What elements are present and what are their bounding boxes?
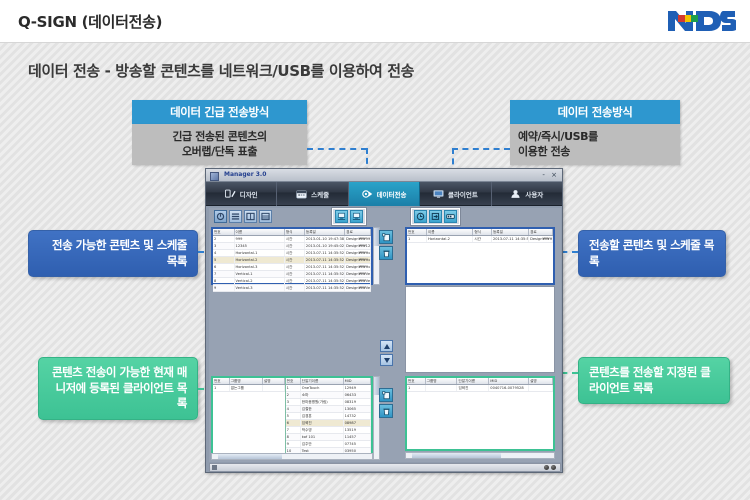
source-content-panel[interactable]: 번호 이름 형식 등록일 경로 2999시간2013-01-10 19:47:3… <box>211 227 373 285</box>
cell-date: 2013-07-11 14:35:52 <box>304 271 344 278</box>
cell-desc <box>262 385 284 392</box>
callout-source-content-list: 전송 가능한 콘텐츠 및 스케줄 목록 <box>28 230 198 277</box>
table-row[interactable]: 8Vertical-2시간2013-07-11 14:35:52Design₩₩… <box>213 278 371 285</box>
delete-client-button[interactable] <box>379 404 393 418</box>
app-icon <box>210 172 219 181</box>
delete-content-button[interactable] <box>379 246 393 260</box>
window-title-text: Manager 3.0 <box>224 171 266 178</box>
callout-transfer-method: 데이터 전송방식 예약/즉시/USB를 이용한 전송 <box>510 100 680 165</box>
table-row[interactable]: 2999시간2013-01-10 19:47:38Design₩₩999.des <box>213 236 371 243</box>
table-row[interactable]: 8kof 10111457 <box>286 434 371 441</box>
table-row[interactable]: 4Horizontal-1시간2013-07-11 14:35:52Design… <box>213 250 371 257</box>
callout-method-body: 예약/즉시/USB를 이용한 전송 <box>510 124 680 165</box>
cell-name: Horizontal-1 <box>234 250 284 257</box>
page-title: Q-SIGN (데이터전송) <box>18 11 162 32</box>
target-clients-body: 1임혁진0040716-0079528 <box>407 385 553 392</box>
data-transfer-workspace: 번호 이름 형식 등록일 경로 2999시간2013-01-10 19:47:3… <box>209 208 561 462</box>
target-content-table[interactable]: 번호 이름 형식 등록일 경로 1Horizontal-2시간2013-07-1… <box>407 229 553 243</box>
cell-date: 2013-01-10 19:45:02 <box>304 243 344 250</box>
cell-no: 8 <box>286 434 301 441</box>
cell-no: 7 <box>213 271 234 278</box>
window-title-bar[interactable]: Manager 3.0 - × <box>206 169 562 182</box>
table-row[interactable]: 9Vertical-3시간2013-07-11 14:35:52Design₩₩… <box>213 285 371 292</box>
client-side-buttons <box>379 388 393 418</box>
tab-data-transfer-label: 데이터전송 <box>377 189 407 199</box>
cell-path: Design₩₩Vertica... <box>345 271 371 278</box>
table-row[interactable]: 7Vertical-1시간2013-07-11 14:35:52Design₩₩… <box>213 271 371 278</box>
view-mode-button-group <box>212 209 274 224</box>
cell-type: 시간 <box>284 250 304 257</box>
table-row[interactable]: 1없는그룹 <box>213 385 284 392</box>
grid-view-icon[interactable] <box>244 210 257 223</box>
move-down-button[interactable] <box>380 354 393 366</box>
client-transfer-button-group <box>332 208 366 225</box>
cell-type: 시간 <box>284 257 304 264</box>
schedule-send-icon[interactable] <box>414 210 427 223</box>
cell-mid: 08319 <box>343 399 370 406</box>
cell-date: 2013-01-10 19:47:38 <box>304 236 344 243</box>
cell-no: 4 <box>213 250 234 257</box>
cell-mid: 08987 <box>343 420 370 427</box>
cell-no: 6 <box>286 420 301 427</box>
transfer-icon <box>362 189 373 199</box>
cell-path: Design₩₩Horizo... <box>345 264 371 271</box>
send-method-button-group <box>411 208 460 225</box>
status-indicators <box>544 465 556 470</box>
cell-no: 4 <box>286 406 301 413</box>
cell-mid: 11457 <box>343 434 370 441</box>
table-row[interactable]: 9김주안07745 <box>286 441 371 448</box>
tab-design-label: 디자인 <box>240 189 258 199</box>
table-row[interactable]: 2소마06433 <box>286 392 371 399</box>
cell-name: Horizontal-2 <box>234 257 284 264</box>
client-list-body: 1OneTouch129492소마064333한마음병원(가림)083194김철… <box>286 385 371 459</box>
cell-mid: 13065 <box>343 406 370 413</box>
table-row[interactable]: 1OneTouch12949 <box>286 385 371 392</box>
instant-send-icon[interactable] <box>429 210 442 223</box>
cell-name: 999 <box>234 236 284 243</box>
cell-type: 시간 <box>284 236 304 243</box>
cell-no: 8 <box>213 278 234 285</box>
client-list-hscroll[interactable] <box>211 453 373 460</box>
group-list-body: 1없는그룹 <box>213 385 284 392</box>
cell-no: 2 <box>213 236 234 243</box>
cell-name: 임혁진 <box>457 385 489 392</box>
cell-no: 1 <box>407 385 425 392</box>
cell-type: 시간 <box>284 278 304 285</box>
nds-logo-icon <box>666 8 736 34</box>
workspace-toolbar <box>209 208 561 226</box>
status-bar <box>209 463 561 472</box>
design-icon <box>225 189 236 199</box>
table-row[interactable]: 4김철한13065 <box>286 406 371 413</box>
cell-path: Design₩₩Vertica... <box>345 278 371 285</box>
slide-subtitle: 데이터 전송 - 방송할 콘텐츠를 네트워크/USB를 이용하여 전송 <box>28 60 414 81</box>
available-clients-panel[interactable]: 번호 그룹명 설명 1없는그룹 번호 단말기이름 MID <box>211 376 373 460</box>
cell-no: 1 <box>213 385 229 392</box>
refresh-icon[interactable] <box>214 210 227 223</box>
table-row[interactable]: 6임혁진08987 <box>286 420 371 427</box>
connector-method-h <box>452 148 510 150</box>
cell-type: 시간 <box>284 264 304 271</box>
group-list-pane[interactable]: 번호 그룹명 설명 1없는그룹 <box>213 378 286 458</box>
target-content-panel[interactable]: 번호 이름 형식 등록일 경로 1Horizontal-2시간2013-07-1… <box>405 227 555 285</box>
client-list-table[interactable]: 번호 단말기이름 MID 1OneTouch129492소마064333한마음병… <box>286 378 371 458</box>
client-remove-icon[interactable] <box>350 210 363 223</box>
cell-date: 2013-07-11 14:35:52 <box>304 264 344 271</box>
source-content-table[interactable]: 번호 이름 형식 등록일 경로 2999시간2013-01-10 19:47:3… <box>213 229 371 292</box>
cell-no: 9 <box>213 285 234 292</box>
cell-name: 김철한 <box>300 406 343 413</box>
user-icon <box>510 189 521 199</box>
callout-urgent-body: 긴급 전송된 콘텐츠의 오버랩/단독 표출 <box>132 124 307 165</box>
cell-date: 2013-07-11 14:35:52 <box>304 257 344 264</box>
page-header: Q-SIGN (데이터전송) <box>0 0 750 43</box>
cell-no: 2 <box>286 392 301 399</box>
table-row[interactable]: 312345시간2013-01-10 19:45:02Design₩₩12345… <box>213 243 371 250</box>
usb-send-icon[interactable] <box>444 210 457 223</box>
main-tab-bar: 디자인 스케줄 데이터전송 <box>206 182 562 206</box>
move-up-button[interactable] <box>380 340 393 352</box>
client-list-pane[interactable]: 번호 단말기이름 MID 1OneTouch129492소마064333한마음병… <box>286 378 371 458</box>
cell-mid: 14732 <box>343 413 370 420</box>
cell-no: 7 <box>286 427 301 434</box>
cell-mid: 12949 <box>343 385 370 392</box>
scroll-thumb[interactable] <box>218 454 282 459</box>
target-content-extra-area[interactable] <box>405 286 555 373</box>
cell-no: 9 <box>286 441 301 448</box>
cell-type: 시간 <box>473 236 492 243</box>
cell-mid: 06433 <box>343 392 370 399</box>
tab-schedule-label: 스케줄 <box>311 189 329 199</box>
cell-no: 5 <box>286 413 301 420</box>
down-arrow-icon <box>384 358 390 363</box>
cell-type: 시간 <box>284 285 304 292</box>
scroll-thumb[interactable] <box>412 453 501 458</box>
cell-name: OneTouch <box>300 385 343 392</box>
source-content-body: 2999시간2013-01-10 19:47:38Design₩₩999.des… <box>213 236 371 292</box>
window-control-buttons[interactable]: - × <box>542 171 559 179</box>
calendar-icon <box>296 189 307 199</box>
cell-mid: 0040716-0079528 <box>489 385 529 392</box>
target-clients-panel[interactable]: 번호 그룹명 단말기이름 MID 설명 1임혁진0040716-0079528 <box>405 376 555 451</box>
cell-name: 12345 <box>234 243 284 250</box>
client-add-icon[interactable] <box>335 210 348 223</box>
cell-name: 김경훈 <box>300 413 343 420</box>
cell-name: 소마 <box>300 392 343 399</box>
tab-client[interactable]: 클라이언트 <box>420 182 491 206</box>
table-row[interactable]: 7박수영13519 <box>286 427 371 434</box>
cell-date: 2013-07-11 14:35:52 <box>491 236 528 243</box>
cell-path: Design₩₩12345... <box>345 243 371 250</box>
status-icon <box>212 465 217 470</box>
cell-name: 한마음병원(가림) <box>300 399 343 406</box>
content-side-buttons <box>379 230 393 260</box>
cell-mid: 13519 <box>343 427 370 434</box>
cell-no: 6 <box>213 264 234 271</box>
group-list-table[interactable]: 번호 그룹명 설명 1없는그룹 <box>213 378 285 392</box>
cell-name: 없는그룹 <box>229 385 262 392</box>
cell-mid: 07745 <box>343 441 370 448</box>
cell-no: 3 <box>286 399 301 406</box>
table-row[interactable]: 5Horizontal-2시간2013-07-11 14:35:52Design… <box>213 257 371 264</box>
cell-name: 김주안 <box>300 441 343 448</box>
list-view-icon[interactable] <box>229 210 242 223</box>
callout-urgent-title: 데이터 긴급 전송방식 <box>132 100 307 124</box>
connector-urgent-h <box>307 148 367 150</box>
callout-target-client-list: 콘텐츠를 전송할 지정된 클라이언트 목록 <box>578 357 730 404</box>
cell-path: Design₩₩Horizo... <box>345 257 371 264</box>
cell-type: 시간 <box>284 271 304 278</box>
cell-no: 1 <box>407 236 426 243</box>
callout-method-title: 데이터 전송방식 <box>510 100 680 124</box>
table-row[interactable]: 5김경훈14732 <box>286 413 371 420</box>
cell-name: Horizontal-3 <box>234 264 284 271</box>
table-row[interactable]: 3한마음병원(가림)08319 <box>286 399 371 406</box>
cell-desc <box>529 385 553 392</box>
target-clients-hscroll[interactable] <box>405 452 555 459</box>
monitor-icon <box>433 189 444 199</box>
cell-date: 2013-07-11 14:35:52 <box>304 285 344 292</box>
cell-path: Design₩₩Horizo... <box>529 236 553 243</box>
cell-name: 박수영 <box>300 427 343 434</box>
cell-type: 시간 <box>284 243 304 250</box>
slide-root: Q-SIGN (데이터전송) 데이터 전송 - 방송할 콘텐츠를 네트워크/US… <box>0 0 750 500</box>
cell-name: 임혁진 <box>300 420 343 427</box>
up-arrow-icon <box>384 344 390 349</box>
cell-name: Vertical-1 <box>234 271 284 278</box>
add-client-button[interactable] <box>379 388 393 402</box>
tab-user-label: 사용자 <box>525 189 543 199</box>
table-row[interactable]: 6Horizontal-3시간2013-07-11 14:35:52Design… <box>213 264 371 271</box>
target-content-body: 1Horizontal-2시간2013-07-11 14:35:52Design… <box>407 236 553 243</box>
cell-name: Vertical-2 <box>234 278 284 285</box>
cell-no: 5 <box>213 257 234 264</box>
cell-date: 2013-07-11 14:35:52 <box>304 278 344 285</box>
callout-available-client-list: 콘텐츠 전송이 가능한 현재 매니저에 등록된 클라이언트 목록 <box>38 357 198 420</box>
cell-path: Design₩₩Vertica... <box>345 285 371 292</box>
tab-client-label: 클라이언트 <box>448 189 478 199</box>
detail-view-icon[interactable] <box>259 210 272 223</box>
cell-name: Horizontal-2 <box>426 236 472 243</box>
tab-design[interactable]: 디자인 <box>206 182 277 206</box>
tab-user[interactable]: 사용자 <box>492 182 562 206</box>
tab-schedule[interactable]: 스케줄 <box>277 182 348 206</box>
table-row[interactable]: 1임혁진0040716-0079528 <box>407 385 553 392</box>
manager-application-window: Manager 3.0 - × 디자인 <box>205 168 563 473</box>
cell-name: kof 101 <box>300 434 343 441</box>
target-clients-table[interactable]: 번호 그룹명 단말기이름 MID 설명 1임혁진0040716-0079528 <box>407 378 553 392</box>
cell-no: 1 <box>286 385 301 392</box>
cell-path: Design₩₩999.des <box>345 236 371 243</box>
cell-group <box>425 385 457 392</box>
cell-name: Vertical-3 <box>234 285 284 292</box>
tab-data-transfer[interactable]: 데이터전송 <box>349 182 420 206</box>
cell-date: 2013-07-11 14:35:52 <box>304 250 344 257</box>
cell-path: Design₩₩Horizo... <box>345 250 371 257</box>
content-transfer-arrows <box>380 340 393 366</box>
add-content-button[interactable] <box>379 230 393 244</box>
callout-urgent-transfer: 데이터 긴급 전송방식 긴급 전송된 콘텐츠의 오버랩/단독 표출 <box>132 100 307 165</box>
table-row[interactable]: 1Horizontal-2시간2013-07-11 14:35:52Design… <box>407 236 553 243</box>
cell-no: 3 <box>213 243 234 250</box>
callout-target-content-list: 전송할 콘텐츠 및 스케줄 목록 <box>578 230 726 277</box>
